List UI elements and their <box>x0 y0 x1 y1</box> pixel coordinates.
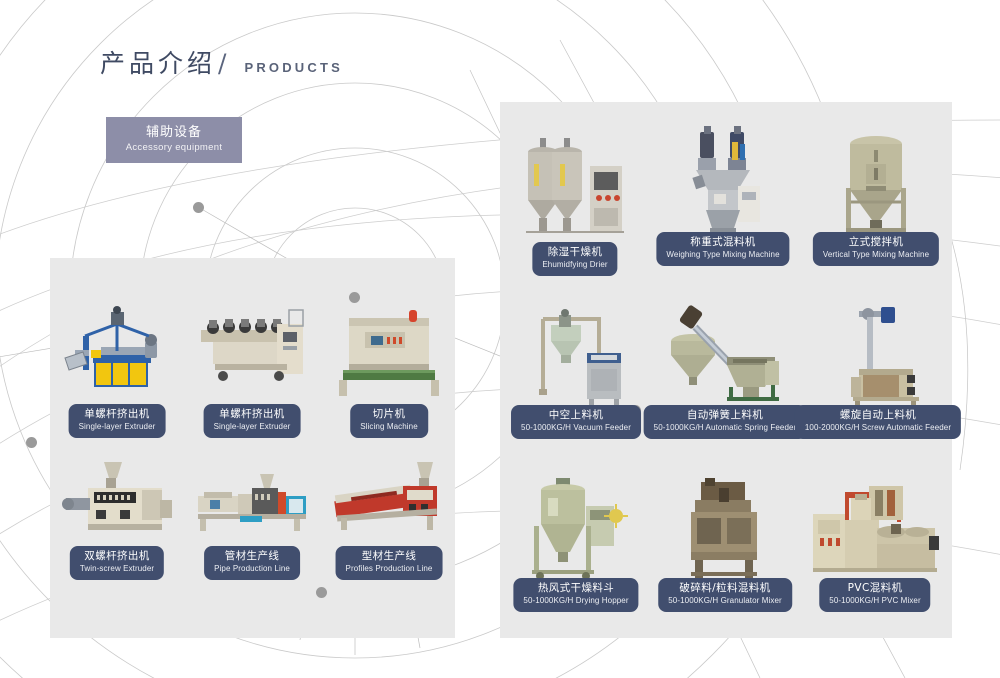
product-label[interactable]: 螺旋自动上料机 100-2000KG/H Screw Automatic Fee… <box>795 405 961 439</box>
product-label-en: Ehumidfying Drier <box>542 260 607 270</box>
product-label[interactable]: 立式搅拌机 Vertical Type Mixing Machine <box>813 232 939 266</box>
product-cell[interactable]: 螺旋自动上料机 100-2000KG/H Screw Automatic Fee… <box>805 295 951 437</box>
granulator-mixer-icon <box>675 476 775 580</box>
product-cell[interactable]: 管材生产线 Pipe Production Line <box>193 452 311 578</box>
product-cell[interactable]: 型材生产线 Profiles Production Line <box>330 452 448 578</box>
product-photo <box>330 452 448 540</box>
screw-feeder-icon <box>823 301 933 407</box>
section-badge-accessory-equipment: 辅助设备 Accessory equipment <box>106 117 242 163</box>
product-label-en: Vertical Type Mixing Machine <box>823 250 929 260</box>
product-label-en: Pipe Production Line <box>214 564 290 574</box>
product-label[interactable]: 单螺杆挤出机 Single-layer Extruder <box>69 404 166 438</box>
page-title-en: PRODUCTS <box>244 60 343 75</box>
pipe-line-icon <box>194 456 310 540</box>
product-label-cn: PVC混料机 <box>829 582 920 595</box>
product-label[interactable]: 型材生产线 Profiles Production Line <box>336 546 443 580</box>
product-label[interactable]: 中空上料机 50-1000KG/H Vacuum Feeder 50-1000K… <box>511 405 641 439</box>
section-badge-label-en: Accessory equipment <box>126 142 223 154</box>
product-cell[interactable]: 切片机 Slicing Machine <box>330 300 448 436</box>
product-label-en: 50-1000KG/H PVC Mixer <box>829 596 920 606</box>
spring-feeder-icon <box>665 301 785 407</box>
page-title-cn: 产品介绍 <box>100 44 216 80</box>
product-label[interactable]: 称重式混料机 Weighing Type Mixing Machine <box>656 232 789 266</box>
product-cell[interactable]: 除湿干燥机 Ehumidfying Drier <box>512 128 638 266</box>
vacuum-feeder-icon <box>521 301 631 407</box>
product-cell[interactable]: 自动弹簧上料机 50-1000KG/H Automatic Spring Fee… <box>655 295 795 437</box>
profile-line-icon <box>331 456 447 540</box>
product-photo <box>512 128 638 238</box>
product-label-cn: 单螺杆挤出机 <box>214 408 291 421</box>
decorative-node-dot <box>26 437 37 448</box>
product-catalog-page: 产品介绍 / PRODUCTS 辅助设备 Accessory equipment <box>0 0 1000 678</box>
product-label-en: 50-1000KG/H Drying Hopper <box>523 596 628 606</box>
product-photo <box>660 118 786 238</box>
weighing-mixer-icon <box>680 124 766 238</box>
product-label-en: 50-1000KG/H Vacuum Feeder <box>521 423 631 433</box>
product-label-en: 50-1000KG/H Granulator Mixer <box>668 596 782 606</box>
product-label-cn: 自动弹簧上料机 <box>654 409 797 422</box>
pvc-mixer-icon <box>805 476 945 580</box>
product-cell[interactable]: 热风式干燥料斗 50-1000KG/H Drying Hopper <box>508 470 644 610</box>
product-label-cn: 双螺杆挤出机 <box>80 550 154 563</box>
vertical-mixer-icon <box>830 124 922 238</box>
product-label[interactable]: 切片机 Slicing Machine <box>350 404 428 438</box>
product-photo <box>58 452 176 540</box>
product-photo <box>655 295 795 407</box>
product-photo <box>800 470 950 580</box>
product-label[interactable]: 单螺杆挤出机 Single-layer Extruder <box>204 404 301 438</box>
decorative-node-dot <box>193 202 204 213</box>
product-label-en: 100-2000KG/H Screw Automatic Feeder <box>805 423 951 433</box>
product-label-en: Profiles Production Line <box>346 564 433 574</box>
product-photo <box>508 295 644 407</box>
product-photo <box>330 300 448 398</box>
product-cell[interactable]: 破碎料/粒料混料机 50-1000KG/H Granulator Mixer <box>655 470 795 610</box>
product-photo <box>193 452 311 540</box>
product-cell[interactable]: 称重式混料机 Weighing Type Mixing Machine <box>660 118 786 266</box>
product-cell[interactable]: 单螺杆挤出机 Single-layer Extruder <box>193 300 311 436</box>
product-label[interactable]: 除湿干燥机 Ehumidfying Drier <box>532 242 617 276</box>
product-label[interactable]: 自动弹簧上料机 50-1000KG/H Automatic Spring Fee… <box>644 405 807 439</box>
drying-hopper-icon <box>520 476 632 580</box>
slicing-machine-icon <box>335 306 443 398</box>
product-label-cn: 管材生产线 <box>214 550 290 563</box>
product-cell[interactable]: PVC混料机 50-1000KG/H PVC Mixer <box>800 470 950 610</box>
page-title: 产品介绍 / PRODUCTS <box>100 44 343 80</box>
product-label[interactable]: 破碎料/粒料混料机 50-1000KG/H Granulator Mixer <box>658 578 792 612</box>
product-cell[interactable]: 单螺杆挤出机 Single-layer Extruder <box>58 300 176 436</box>
product-cell[interactable]: 中空上料机 50-1000KG/H Vacuum Feeder 50-1000K… <box>508 295 644 437</box>
product-label-en: Single-layer Extruder <box>214 422 291 432</box>
product-label-en: Slicing Machine <box>360 422 418 432</box>
product-label-cn: 除湿干燥机 <box>542 246 607 259</box>
twin-screw-extruder-icon <box>60 456 174 540</box>
product-photo <box>508 470 644 580</box>
product-label[interactable]: 双螺杆挤出机 Twin-screw Extruder <box>70 546 164 580</box>
product-label-en: 50-1000KG/H Automatic Spring Feeder <box>654 423 797 433</box>
product-photo <box>808 118 944 238</box>
product-label-cn: 热风式干燥料斗 <box>523 582 628 595</box>
page-title-slash: / <box>218 49 226 78</box>
product-photo <box>193 300 311 398</box>
product-label-cn: 螺旋自动上料机 <box>805 409 951 422</box>
product-label-cn: 立式搅拌机 <box>823 236 929 249</box>
product-label-en: Weighing Type Mixing Machine <box>666 250 779 260</box>
section-badge-label-cn: 辅助设备 <box>146 125 202 141</box>
product-label-cn: 破碎料/粒料混料机 <box>668 582 782 595</box>
product-label[interactable]: PVC混料机 50-1000KG/H PVC Mixer <box>819 578 930 612</box>
product-label-cn: 切片机 <box>360 408 418 421</box>
product-cell[interactable]: 双螺杆挤出机 Twin-screw Extruder <box>58 452 176 578</box>
dehumidifying-drier-icon <box>520 134 630 238</box>
product-photo <box>655 470 795 580</box>
decorative-node-dot <box>316 587 327 598</box>
product-label-cn: 型材生产线 <box>346 550 433 563</box>
product-label[interactable]: 管材生产线 Pipe Production Line <box>204 546 300 580</box>
product-label-en: Single-layer Extruder <box>79 422 156 432</box>
extruder-roller-icon <box>195 306 309 398</box>
product-label-cn: 中空上料机 <box>521 409 631 422</box>
product-cell[interactable]: 立式搅拌机 Vertical Type Mixing Machine <box>808 118 944 266</box>
product-photo <box>805 295 951 407</box>
product-label-cn: 单螺杆挤出机 <box>79 408 156 421</box>
product-label[interactable]: 热风式干燥料斗 50-1000KG/H Drying Hopper <box>513 578 638 612</box>
product-label-en: Twin-screw Extruder <box>80 564 154 574</box>
product-label-cn: 称重式混料机 <box>666 236 779 249</box>
product-photo <box>58 300 176 398</box>
extruder-blue-icon <box>61 306 173 398</box>
